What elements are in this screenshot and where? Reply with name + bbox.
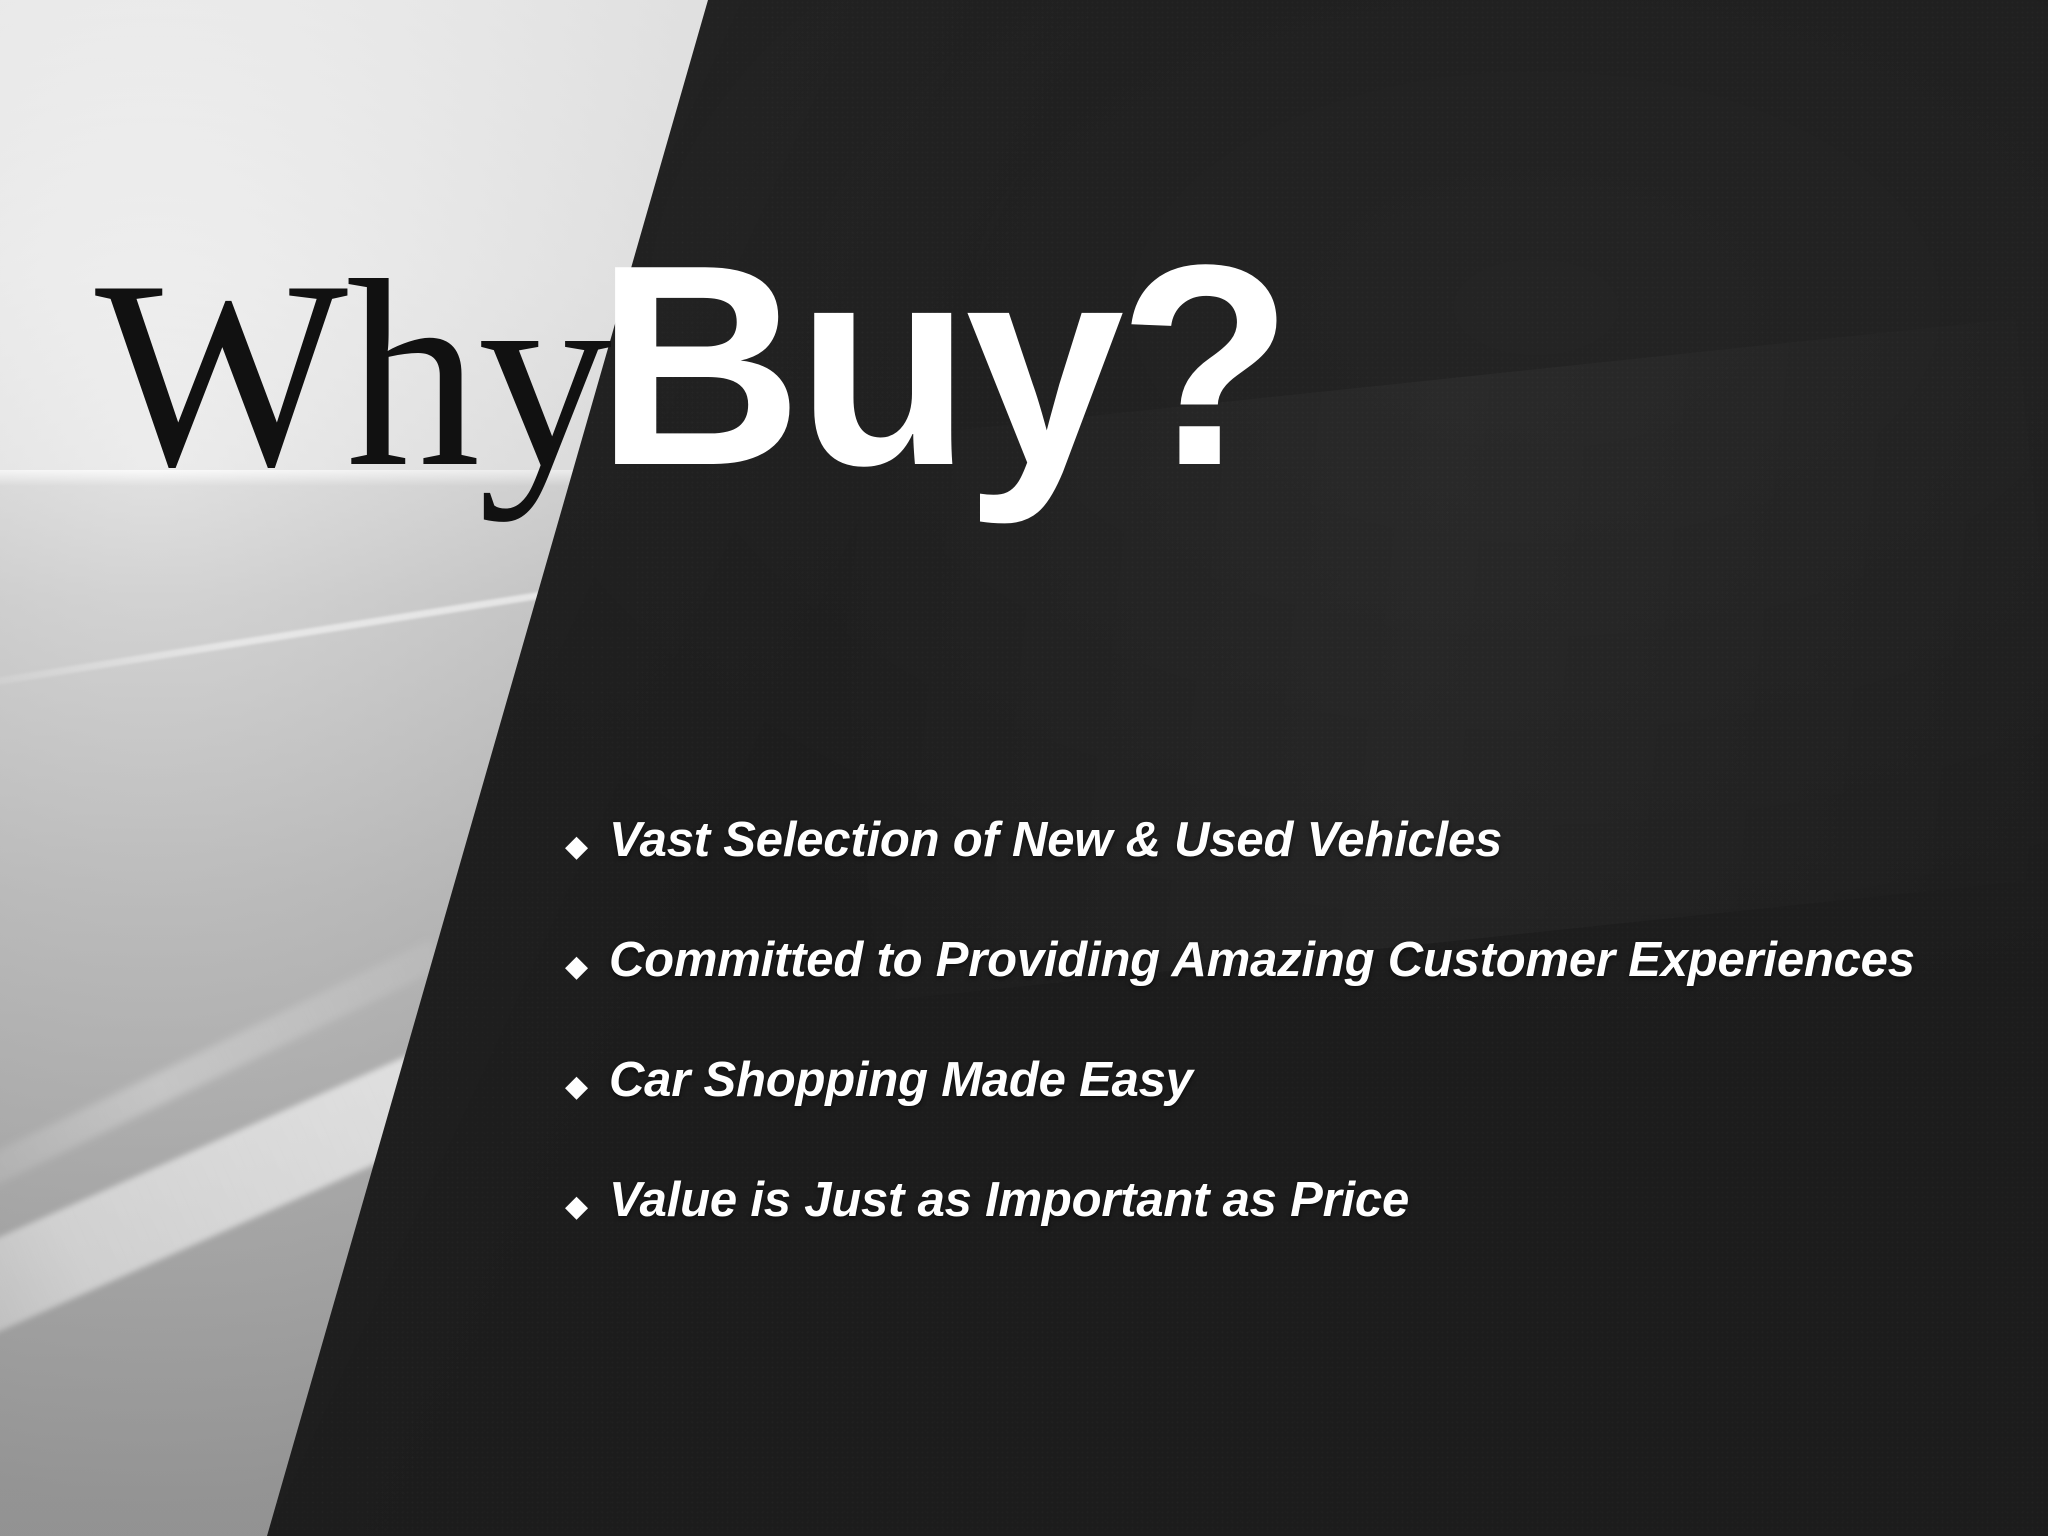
diamond-bullet-icon: ◆ bbox=[565, 952, 609, 982]
page-title: WhyBuy? bbox=[95, 222, 1287, 508]
title-word-why: Why bbox=[95, 225, 610, 522]
list-item-label: Committed to Providing Amazing Customer … bbox=[609, 932, 1915, 988]
list-item-label: Value is Just as Important as Price bbox=[609, 1172, 1409, 1228]
diamond-bullet-icon: ◆ bbox=[565, 1192, 609, 1222]
diamond-bullet-icon: ◆ bbox=[565, 832, 609, 862]
list-item-label: Vast Selection of New & Used Vehicles bbox=[609, 812, 1502, 868]
list-item: ◆ Committed to Providing Amazing Custome… bbox=[565, 932, 1915, 1052]
bullet-list: ◆ Vast Selection of New & Used Vehicles … bbox=[565, 812, 1915, 1292]
list-item: ◆ Car Shopping Made Easy bbox=[565, 1052, 1915, 1172]
list-item: ◆ Vast Selection of New & Used Vehicles bbox=[565, 812, 1915, 932]
list-item: ◆ Value is Just as Important as Price bbox=[565, 1172, 1915, 1292]
diamond-bullet-icon: ◆ bbox=[565, 1072, 609, 1102]
slide: WhyBuy? ◆ Vast Selection of New & Used V… bbox=[0, 0, 2048, 1536]
title-word-buy: Buy? bbox=[596, 205, 1287, 525]
list-item-label: Car Shopping Made Easy bbox=[609, 1052, 1193, 1108]
